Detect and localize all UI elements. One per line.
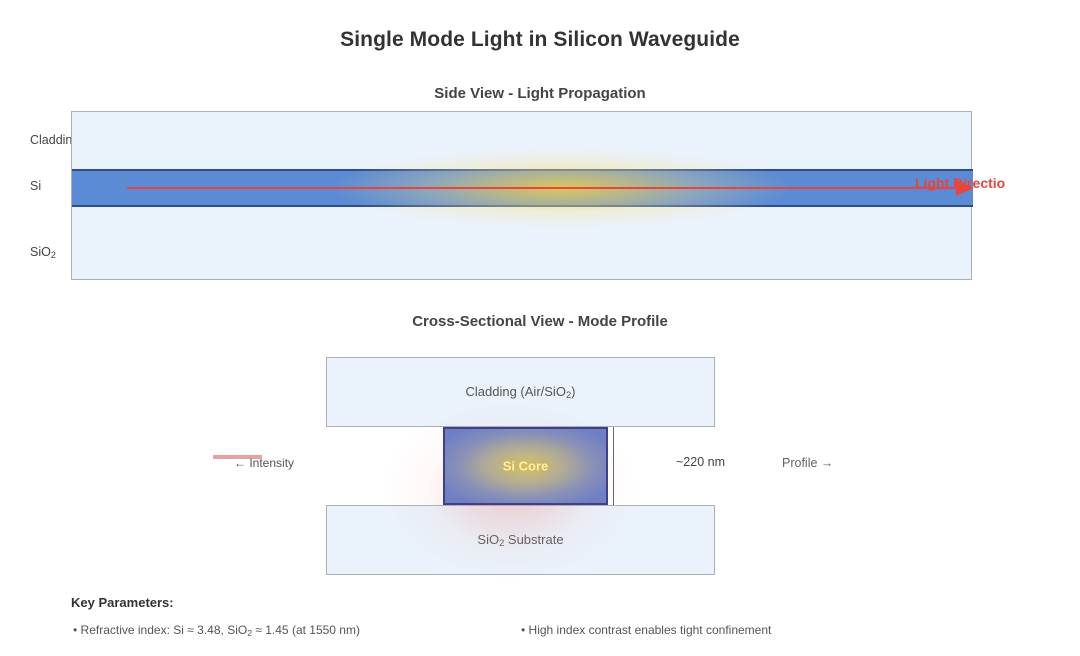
key-parameters-heading: Key Parameters:: [71, 595, 174, 610]
key-parameter-item: • High index contrast enables tight conf…: [521, 623, 771, 637]
cross-section-cladding-label: Cladding (Air/SiO2): [327, 384, 714, 400]
side-view-label-silicon: Si: [30, 179, 41, 193]
cross-section-cladding-box: Cladding (Air/SiO2): [326, 357, 715, 427]
silicon-core-label: Si Core: [445, 459, 606, 474]
intensity-label: ← Intensity: [234, 456, 294, 470]
cross-section-title: Cross-Sectional View - Mode Profile: [0, 313, 1080, 330]
light-propagation-line: [127, 187, 962, 189]
page-title: Single Mode Light in Silicon Waveguide: [0, 28, 1080, 52]
core-thickness-dimension-line: [613, 427, 614, 505]
core-thickness-label: ~220 nm: [676, 455, 725, 469]
silicon-core-box: Si Core: [443, 427, 608, 505]
key-parameter-item: • Refractive index: Si ≈ 3.48, SiO2 ≈ 1.…: [73, 623, 360, 638]
side-view-title: Side View - Light Propagation: [0, 85, 1080, 102]
profile-direction-label: Profile →: [782, 456, 833, 470]
side-view-label-silicon-dioxide: SiO2: [30, 245, 56, 260]
light-direction-label: Light Directio: [915, 175, 1005, 191]
cross-section-substrate-box: SiO2 Substrate: [326, 505, 715, 575]
cross-section-substrate-label: SiO2 Substrate: [327, 532, 714, 548]
side-view-diagram: [71, 111, 972, 280]
